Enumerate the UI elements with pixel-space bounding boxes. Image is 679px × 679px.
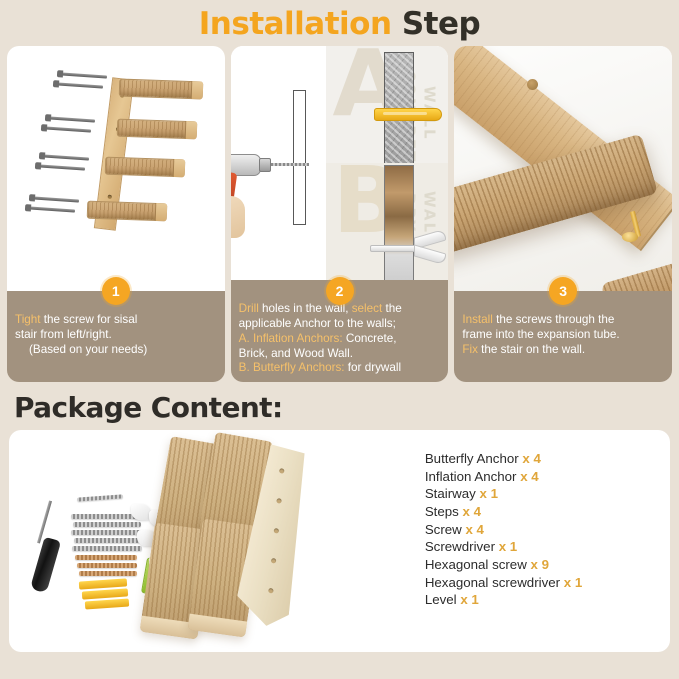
title-word-step: Step bbox=[402, 6, 480, 42]
caption-line: Brick, and Wood Wall. bbox=[239, 347, 441, 362]
screws-group bbox=[71, 512, 143, 578]
screw-icon bbox=[57, 82, 103, 88]
step-number-badge: 1 bbox=[102, 277, 130, 305]
hand-icon bbox=[231, 196, 245, 238]
screw-icon bbox=[71, 530, 143, 535]
screw-icon bbox=[45, 126, 91, 132]
package-items-list: Butterfly Anchor x 4 Inflation Anchor x … bbox=[419, 430, 670, 652]
step-number-badge: 3 bbox=[549, 277, 577, 305]
screw-icon bbox=[61, 72, 107, 78]
list-item: Screw x 4 bbox=[425, 521, 670, 539]
butterfly-anchor-icon bbox=[131, 504, 151, 520]
caption-line: B. Butterfly Anchors: for drywall bbox=[239, 361, 441, 376]
caption-line: Tight the screw for sisal bbox=[15, 313, 217, 328]
butterfly-anchor-icon bbox=[370, 235, 448, 261]
step-3-illustration bbox=[454, 46, 672, 291]
step-1-illustration bbox=[7, 46, 225, 291]
caption-line: stair from left/right. bbox=[15, 328, 217, 343]
sisal-step bbox=[105, 157, 186, 178]
step-2-illustration: A CONCRETE WALL B DRY WALL bbox=[231, 46, 449, 280]
step-number-badge: 2 bbox=[326, 277, 354, 305]
step-card-2: A CONCRETE WALL B DRY WALL bbox=[231, 46, 449, 382]
anchor-types-column: A CONCRETE WALL B DRY WALL bbox=[326, 46, 448, 280]
screw-icon bbox=[43, 154, 89, 160]
step-card-3: 3 Install the screws through the frame i… bbox=[454, 46, 672, 382]
screw-icon bbox=[72, 546, 142, 551]
drilling-illustration bbox=[231, 46, 331, 280]
mounted-step-photo bbox=[454, 46, 672, 291]
caption-line: A. Inflation Anchors: Concrete, bbox=[239, 332, 441, 347]
hexagonal-screwdriver-icon bbox=[77, 494, 123, 501]
list-item: Inflation Anchor x 4 bbox=[425, 468, 670, 486]
anchor-option-b: B DRY WALL bbox=[326, 163, 448, 280]
sisal-step bbox=[119, 79, 204, 100]
screw-icon bbox=[39, 164, 85, 170]
package-content-heading: Package Content: bbox=[0, 382, 679, 430]
screw-icon bbox=[49, 116, 95, 122]
stairway-frame-diagram bbox=[7, 46, 225, 291]
screw-icon bbox=[74, 538, 140, 543]
drill-bit-icon bbox=[271, 163, 309, 166]
screw-icon bbox=[29, 206, 75, 212]
caption-line: Fix the stair on the wall. bbox=[462, 343, 664, 358]
title-word-installation: Installation bbox=[199, 6, 392, 42]
list-item: Hexagonal screwdriver x 1 bbox=[425, 574, 670, 592]
list-item: Stairway x 1 bbox=[425, 485, 670, 503]
drywall-slab bbox=[384, 165, 414, 280]
list-item: Butterfly Anchor x 4 bbox=[425, 450, 670, 468]
installation-steps-row: 1 Tight the screw for sisal stair from l… bbox=[0, 46, 679, 382]
sisal-step bbox=[117, 119, 198, 140]
list-item: Steps x 4 bbox=[425, 503, 670, 521]
hexagonal-screw-icon bbox=[77, 563, 137, 568]
step-card-1: 1 Tight the screw for sisal stair from l… bbox=[7, 46, 225, 382]
caption-line: (Based on your needs) bbox=[15, 343, 217, 358]
screwdriver-handle-icon bbox=[30, 537, 61, 594]
anchor-option-a: A CONCRETE WALL bbox=[326, 46, 448, 163]
list-item: Hexagonal screw x 9 bbox=[425, 556, 670, 574]
package-contents-photo bbox=[9, 430, 419, 652]
sisal-step bbox=[87, 201, 168, 222]
inflation-anchor-icon bbox=[374, 108, 442, 121]
list-item: Level x 1 bbox=[425, 591, 670, 609]
hexagonal-screw-icon bbox=[75, 555, 137, 560]
caption-line: frame into the expansion tube. bbox=[462, 328, 664, 343]
package-content-card: Butterfly Anchor x 4 Inflation Anchor x … bbox=[9, 430, 670, 652]
screw-icon bbox=[33, 196, 79, 202]
drill-chuck-icon bbox=[259, 158, 271, 172]
page-title: Installation Step bbox=[0, 0, 679, 41]
screw-icon bbox=[71, 514, 141, 519]
caption-line: Install the screws through the bbox=[462, 313, 664, 328]
caption-line: applicable Anchor to the walls; bbox=[239, 317, 441, 332]
anchor-selection-diagram: A CONCRETE WALL B DRY WALL bbox=[231, 46, 449, 280]
wall-outline bbox=[293, 90, 306, 225]
inflation-anchor-icon bbox=[85, 599, 129, 610]
hexagonal-screw-icon bbox=[79, 571, 137, 576]
list-item: Screwdriver x 1 bbox=[425, 538, 670, 556]
screw-icon bbox=[73, 522, 141, 527]
